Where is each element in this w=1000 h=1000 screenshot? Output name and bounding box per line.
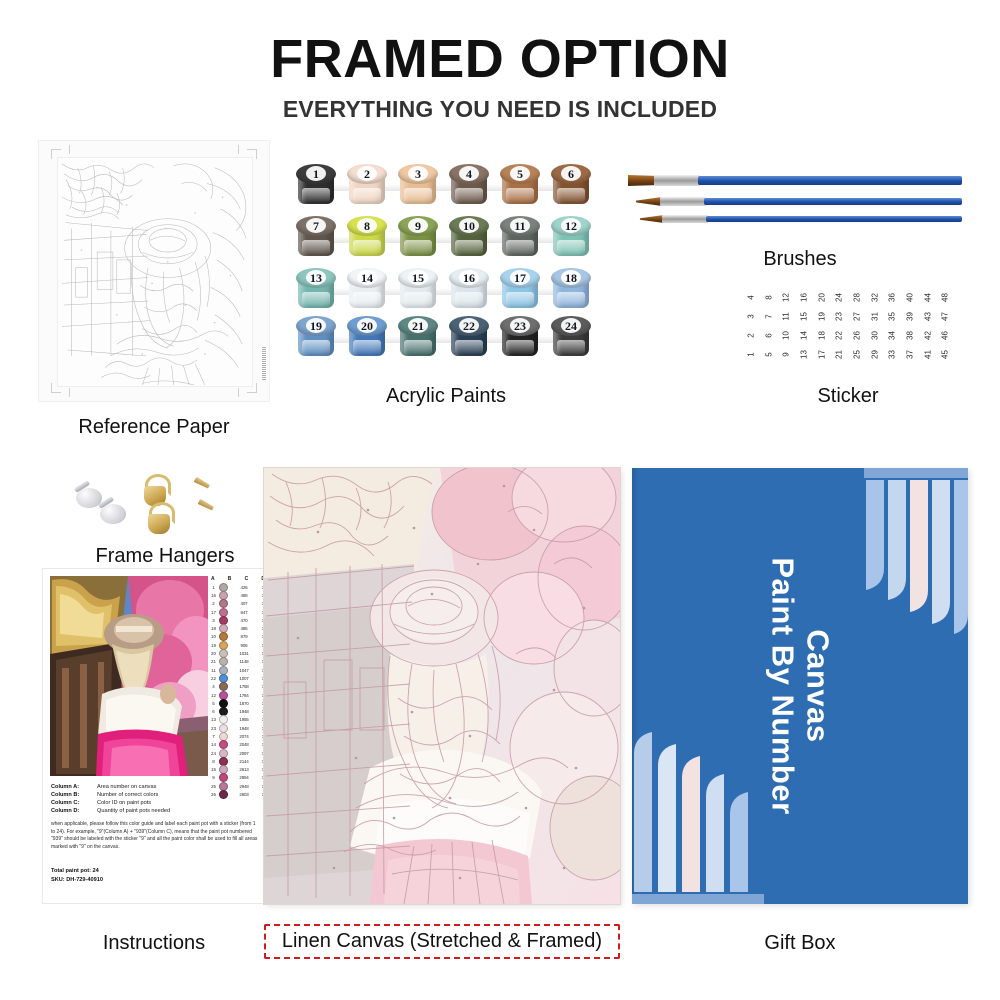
sticker-number: 10 [777,327,796,345]
sticker-number: 32 [865,289,884,307]
sticker-number: 39 [900,308,919,326]
sticker-number: 27 [847,308,866,326]
legend-row: 184851 [209,624,267,632]
legend-color-swatch [219,657,228,666]
instructions-column-key-label: Column D: [51,807,97,815]
legend-row: 417581 [209,683,267,691]
caption-sticker: Sticker [742,385,954,408]
sticker-number: 38 [900,327,919,345]
sticker-number: 31 [865,308,884,326]
sticker-number: 40 [900,289,919,307]
legend-color-id: 1948 [230,709,258,714]
acrylic-paints-image: 123456 789101112 131415161718 1920212223… [296,164,596,364]
legend-color-id: 2048 [230,742,258,747]
sticker-number: 5 [759,346,778,364]
paint-pot: 13 [296,268,336,312]
sticker-number: 33 [883,346,902,364]
sticker-number: 43 [918,308,937,326]
instructions-column-line: Column D:Quantity of paint pots needed [51,807,269,815]
sticker-number: 44 [918,289,937,307]
caption-acrylic-paints: Acrylic Paints [296,385,596,408]
legend-row: 2210071 [209,674,267,682]
legend-row: 2420971 [209,749,267,757]
paint-pot-number: 12 [551,216,591,236]
legend-color-swatch [219,682,228,691]
legend-color-id: 1948 [230,726,258,731]
paint-pot-number: 1 [296,164,336,184]
paint-pot-sheen [455,292,483,306]
legend-row: 2010311 [209,649,267,657]
gift-box-fan-top [864,468,968,638]
sticker-number: 29 [865,346,884,364]
legend-color-id: 879 [230,634,258,639]
paint-pot-number: 8 [347,216,387,236]
paint-pot: 10 [449,216,489,260]
legend-row: 1110471 [209,666,267,674]
instructions-column-line: Column A:Area number on canvas [51,783,269,791]
legend-area-number: 14 [210,742,217,747]
instructions-note: when applicable, please follow this colo… [51,821,261,851]
gift-box-title-line1: Canvas [800,557,835,814]
paint-pot: 23 [500,316,540,360]
paint-pot-number: 19 [296,316,336,336]
paint-pot-sheen [455,188,483,202]
legend-area-number: 2 [210,601,217,606]
paint-pot-sheen [404,292,432,306]
legend-color-id: 1758 [230,684,258,689]
legend-color-id: 1047 [230,668,258,673]
paint-pot: 17 [500,268,540,312]
paint-pot-number: 14 [347,268,387,288]
sticker-number: 17 [812,346,831,364]
paint-pot: 18 [551,268,591,312]
legend-row: 1526131 [209,766,267,774]
sticker-number: 23 [830,308,849,326]
legend-color-swatch [219,599,228,608]
legend-row: 178471 [209,608,267,616]
paint-pot-sheen [353,188,381,202]
paint-pot: 21 [398,316,438,360]
caption-frame-hangers: Frame Hangers [40,545,290,568]
sticker-number: 9 [777,346,796,364]
legend-color-id: 426 [230,585,258,590]
paint-pot-sheen [506,188,534,202]
sticker-number: 20 [812,289,831,307]
legend-row: 619481 [209,707,267,715]
caption-brushes: Brushes [700,248,900,271]
legend-color-id: 1031 [230,651,258,656]
paint-pot-sheen [455,340,483,354]
legend-area-number: 19 [210,643,217,648]
paint-pot-sheen [557,240,585,254]
legend-color-id: 906 [230,643,258,648]
paint-pot-sheen [455,240,483,254]
sticker-number: 19 [812,308,831,326]
paint-pot-sheen [557,340,585,354]
paint-pot-sheen [302,240,330,254]
legend-color-id: 2097 [230,751,258,756]
legend-color-id: 1784 [230,693,258,698]
sticker-number: 22 [830,327,849,345]
paint-pot-number: 17 [500,268,540,288]
paint-pot: 5 [500,164,540,208]
sticker-number: 14 [794,327,813,345]
sticker-number: 8 [759,289,778,307]
sku-value: DH-729-40910 [66,877,103,883]
brushes-image [628,172,968,242]
legend-area-number: 3 [210,618,217,623]
paint-pot-sheen [353,340,381,354]
legend-area-number: 21 [210,659,217,664]
gift-box-image: Canvas Paint By Number [632,468,968,904]
paint-pot-number: 13 [296,268,336,288]
legend-area-number: 5 [210,701,217,706]
sku-label: SKU: [51,877,65,883]
legend-area-number: 24 [210,751,217,756]
legend-row: 720741 [209,732,267,740]
paint-pot: 4 [449,164,489,208]
sticker-number: 2 [741,327,760,345]
sticker-number: 7 [759,308,778,326]
sticker-number: 21 [830,346,849,364]
paint-pot-number: 7 [296,216,336,236]
paint-pot-number: 10 [449,216,489,236]
legend-area-number: 6 [210,709,217,714]
paint-pot: 3 [398,164,438,208]
instructions-totals: Total paint pot: 24 SKU: DH-729-40910 [51,867,103,885]
paint-pot-number: 23 [500,316,540,336]
paint-pot-sheen [557,188,585,202]
sticker-number: 34 [883,327,902,345]
paint-pot-sheen [557,292,585,306]
paint-pot-number: 5 [500,164,540,184]
paint-pot: 22 [449,316,489,360]
sticker-number: 12 [777,289,796,307]
paint-pot-sheen [404,188,432,202]
frame-hangers-image [70,470,260,540]
legend-color-id: 488 [230,593,258,598]
legend-area-number: 13 [210,717,217,722]
total-paint-pot-line: Total paint pot: 24 [51,867,103,876]
legend-area-number: 22 [210,676,217,681]
legend-color-id: 1870 [230,701,258,706]
paint-pot: 16 [449,268,489,312]
paint-pot-number: 4 [449,164,489,184]
paint-pot: 1 [296,164,336,208]
paint-pot-sheen [404,340,432,354]
legend-row: 199061 [209,641,267,649]
gift-box-fan-bottom [632,714,764,904]
caption-gift-box: Gift Box [632,932,968,955]
instructions-column-desc: Number of correct colors [97,791,158,799]
paint-pot-number: 9 [398,216,438,236]
legend-row: 1217841 [209,691,267,699]
legend-row: 1420481 [209,741,267,749]
instructions-sheet-image: A B C D 14261164881240711784713470118485… [42,568,274,904]
total-paint-pot-label: Total paint pot: [51,868,91,874]
legend-row: 821441 [209,757,267,765]
legend-area-number: 10 [210,634,217,639]
legend-row: 24071 [209,600,267,608]
sticker-number: 46 [936,327,955,345]
legend-header: A B C D [209,576,267,583]
legend-color-swatch [219,740,228,749]
sticker-number: 4 [741,289,760,307]
legend-row: 164881 [209,591,267,599]
paint-pot-number: 22 [449,316,489,336]
legend-color-id: 470 [230,618,258,623]
total-paint-pot-value: 24 [93,868,99,874]
instructions-column-key: Column A:Area number on canvasColumn B:N… [51,783,269,815]
sticker-number: 45 [936,346,955,364]
legend-row: 518701 [209,699,267,707]
linen-canvas-image [264,468,620,904]
paint-pot: 14 [347,268,387,312]
paint-pot-sheen [353,292,381,306]
caption-linen-canvas: Linen Canvas (Stretched & Framed) [264,924,620,959]
sku-line: SKU: DH-729-40910 [51,876,103,885]
sticker-number: 36 [883,289,902,307]
legend-area-number: 12 [210,693,217,698]
sticker-number: 18 [812,327,831,345]
instructions-column-line: Column C:Color ID on paint pots [51,799,269,807]
paint-pot: 19 [296,316,336,360]
legend-area-number: 4 [210,684,217,689]
paint-pot-number: 16 [449,268,489,288]
legend-color-id: 1955 [230,717,258,722]
legend-area-number: 17 [210,610,217,615]
legend-area-number: 9 [210,775,217,780]
sticker-number: 3 [741,308,760,326]
caption-instructions: Instructions [38,932,270,955]
instructions-column-key-label: Column B: [51,791,97,799]
paint-pot-number: 21 [398,316,438,336]
legend-header-b: B [228,576,232,582]
legend-area-number: 20 [210,651,217,656]
sticker-number: 37 [900,346,919,364]
legend-header-a: A [211,576,215,582]
paint-pot: 9 [398,216,438,260]
instructions-color-preview [50,576,208,776]
legend-area-number: 18 [210,626,217,631]
paint-pot-number: 24 [551,316,591,336]
legend-area-number: 16 [210,593,217,598]
sticker-number: 30 [865,327,884,345]
paint-pot: 2 [347,164,387,208]
paint-pot: 24 [551,316,591,360]
legend-color-id: 2894 [230,775,258,780]
legend-area-number: 8 [210,759,217,764]
instructions-color-legend: A B C D 14261164881240711784713470118485… [209,576,267,787]
paint-pot-sheen [302,188,330,202]
paint-pot: 12 [551,216,591,260]
sticker-number: 1 [741,346,760,364]
legend-row: 928941 [209,774,267,782]
instructions-column-key-label: Column A: [51,783,97,791]
sticker-number: 26 [847,327,866,345]
paint-pot-number: 18 [551,268,591,288]
legend-color-id: 407 [230,601,258,606]
instructions-column-desc: Area number on canvas [97,783,156,791]
sticker-number: 47 [936,308,955,326]
sticker-number: 35 [883,308,902,326]
page-subtitle: EVERYTHING YOU NEED IS INCLUDED [0,96,1000,123]
paint-pot: 20 [347,316,387,360]
legend-row: 108791 [209,633,267,641]
legend-area-number: 1 [210,585,217,590]
paint-pot-sheen [506,292,534,306]
legend-area-number: 23 [210,726,217,731]
sticker-number: 25 [847,346,866,364]
legend-row: 34701 [209,616,267,624]
paint-pot-sheen [353,240,381,254]
legend-color-id: 2074 [230,734,258,739]
legend-row: 2111481 [209,658,267,666]
paint-pot: 11 [500,216,540,260]
reference-paper-lineart [57,157,253,387]
paint-pot-number: 20 [347,316,387,336]
gift-box-title-line2: Paint By Number [765,557,800,814]
legend-color-id: 1007 [230,676,258,681]
legend-color-id: 2144 [230,759,258,764]
sticker-number: 6 [759,327,778,345]
legend-row: 1319551 [209,716,267,724]
paint-pot-sheen [302,292,330,306]
paint-pot: 15 [398,268,438,312]
legend-color-id: 847 [230,610,258,615]
reference-paper-watermark [262,347,266,381]
sticker-number: 13 [794,346,813,364]
sticker-number: 41 [918,346,937,364]
paint-pot-number: 2 [347,164,387,184]
legend-header-c: C [245,576,249,582]
paint-pot: 6 [551,164,591,208]
paint-pot-sheen [506,240,534,254]
gift-box-title: Canvas Paint By Number [765,557,834,814]
paint-pot-number: 11 [500,216,540,236]
page-title: FRAMED OPTION [0,32,1000,86]
paint-pot-number: 6 [551,164,591,184]
product-infographic: FRAMED OPTION EVERYTHING YOU NEED IS INC… [0,0,1000,1000]
sticker-sheet-image: 4812162024283236404448371115192327313539… [742,288,954,364]
caption-reference-paper: Reference Paper [38,416,270,439]
sticker-number: 24 [830,289,849,307]
paint-pot-sheen [404,240,432,254]
instructions-column-line: Column B:Number of correct colors [51,791,269,799]
sticker-number: 16 [794,289,813,307]
paint-pot-sheen [506,340,534,354]
instructions-column-desc: Color ID on paint pots [97,799,151,807]
legend-color-id: 2613 [230,767,258,772]
legend-row: 2319481 [209,724,267,732]
paint-pot: 7 [296,216,336,260]
paint-pot-number: 3 [398,164,438,184]
sticker-number: 11 [777,308,796,326]
sticker-number: 42 [918,327,937,345]
instructions-column-desc: Quantity of paint pots needed [97,807,170,815]
paint-pot-sheen [302,340,330,354]
paint-pot-number: 15 [398,268,438,288]
sticker-number: 28 [847,289,866,307]
paint-pot: 8 [347,216,387,260]
legend-row: 14261 [209,583,267,591]
legend-area-number: 11 [210,668,217,673]
legend-area-number: 7 [210,734,217,739]
legend-color-id: 1148 [230,659,258,664]
legend-area-number: 15 [210,767,217,772]
sticker-number: 48 [936,289,955,307]
instructions-column-key-label: Column C: [51,799,97,807]
sticker-number: 15 [794,308,813,326]
legend-color-id: 485 [230,626,258,631]
reference-paper-image [38,140,270,402]
